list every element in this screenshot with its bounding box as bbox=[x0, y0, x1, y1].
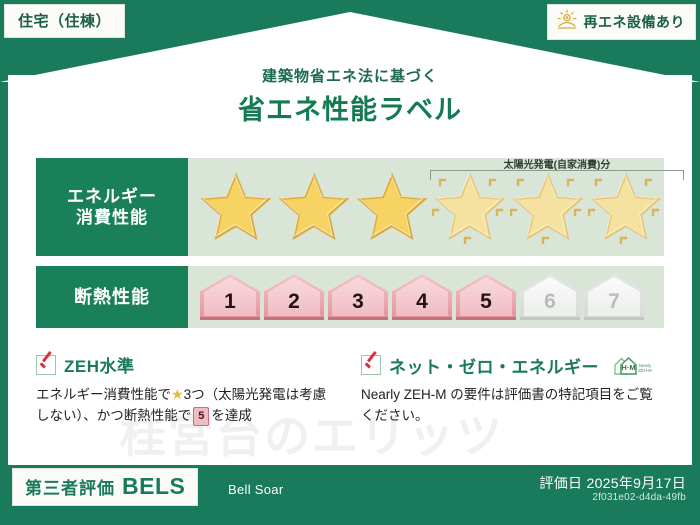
star-filled-icon bbox=[198, 169, 274, 245]
building-type-tab: 住宅（住棟） bbox=[4, 4, 125, 38]
bels-certification-box: 第三者評価 BELS bbox=[12, 468, 198, 506]
star-solar-icon bbox=[432, 169, 508, 245]
zeh-standard-head: ZEH水準 bbox=[36, 352, 339, 377]
energy-performance-row: エネルギー 消費性能 太陽光発電(自家消費)分 bbox=[36, 158, 664, 256]
renewable-equipment-badge: 再エネ設備あり bbox=[547, 4, 697, 40]
zeh-standard-note: ZEH水準 エネルギー消費性能で★3つ（太陽光発電は考慮しない）、かつ断熱性能で… bbox=[36, 352, 339, 427]
insulation-grades-panel: 1234567 bbox=[188, 266, 664, 328]
check-icon bbox=[361, 355, 381, 375]
star-filled-icon bbox=[354, 169, 430, 245]
svg-text:H·M: H·M bbox=[621, 363, 635, 372]
insulation-grade-value: 1 bbox=[224, 290, 236, 320]
insulation-grade-badge: 2 bbox=[264, 274, 324, 320]
energy-stars-panel: 太陽光発電(自家消費)分 bbox=[188, 158, 664, 256]
svg-text:ZEH-M: ZEH-M bbox=[638, 368, 652, 373]
evaluation-date: 評価日 2025年9月17日 bbox=[539, 473, 686, 493]
insulation-performance-row: 断熱性能 1234567 bbox=[36, 266, 664, 328]
insulation-grade-value: 2 bbox=[288, 290, 300, 320]
label-subtitle: 建築物省エネ法に基づく bbox=[0, 65, 700, 86]
insulation-grade-value: 6 bbox=[544, 290, 556, 320]
star-filled-icon bbox=[276, 169, 352, 245]
notes-section: ZEH水準 エネルギー消費性能で★3つ（太陽光発電は考慮しない）、かつ断熱性能で… bbox=[36, 352, 664, 427]
net-zero-head: ネット・ゼロ・エネルギー H·M Nearly ZEH-M bbox=[361, 352, 664, 378]
insulation-grade-list: 1234567 bbox=[188, 274, 644, 320]
check-icon bbox=[36, 355, 56, 375]
zeh-m-logo-icon: H·M Nearly ZEH-M bbox=[611, 352, 655, 378]
insulation-grade-badge: 5 bbox=[456, 274, 516, 320]
energy-performance-label-box: エネルギー 消費性能 bbox=[36, 158, 188, 256]
star-solar-icon bbox=[510, 169, 586, 245]
insulation-grade-badge: 7 bbox=[584, 274, 644, 320]
bels-jp-label: 第三者評価 bbox=[25, 474, 115, 499]
renewable-badge-label: 再エネ設備あり bbox=[584, 12, 686, 32]
insulation-grade-badge: 4 bbox=[392, 274, 452, 320]
inline-grade-badge: 5 bbox=[193, 407, 209, 426]
zeh-body-part1: エネルギー消費性能で bbox=[36, 387, 171, 402]
net-zero-energy-note: ネット・ゼロ・エネルギー H·M Nearly ZEH-M Nearly ZEH… bbox=[361, 352, 664, 427]
zeh-standard-body: エネルギー消費性能で★3つ（太陽光発電は考慮しない）、かつ断熱性能で5を達成 bbox=[36, 384, 339, 427]
star-rating bbox=[188, 169, 664, 245]
net-zero-title: ネット・ゼロ・エネルギー bbox=[389, 353, 599, 378]
insulation-label-box: 断熱性能 bbox=[36, 266, 188, 328]
zeh-body-part3: を達成 bbox=[211, 408, 252, 423]
insulation-grade-value: 3 bbox=[352, 290, 364, 320]
insulation-label: 断熱性能 bbox=[74, 286, 150, 309]
insulation-grade-badge: 1 bbox=[200, 274, 260, 320]
building-name: Bell Soar bbox=[228, 482, 283, 497]
insulation-grade-value: 5 bbox=[480, 290, 492, 320]
inline-star-icon: ★ bbox=[171, 386, 184, 402]
solar-sun-icon bbox=[556, 9, 578, 34]
energy-label-line1: エネルギー bbox=[67, 186, 157, 207]
zeh-standard-title: ZEH水準 bbox=[64, 352, 135, 377]
insulation-grade-value: 4 bbox=[416, 290, 428, 320]
energy-performance-label: 桂宮台のエリッツ 住宅（住棟） 再エネ設備あり 建築物省エネ法に基づく 省エネ性… bbox=[0, 0, 700, 525]
net-zero-body: Nearly ZEH-M の要件は評価書の特記項目をご覧ください。 bbox=[361, 385, 664, 427]
energy-label-line2: 消費性能 bbox=[76, 207, 148, 228]
insulation-grade-value: 7 bbox=[608, 290, 620, 320]
insulation-grade-badge: 6 bbox=[520, 274, 580, 320]
insulation-grade-badge: 3 bbox=[328, 274, 388, 320]
evaluation-id: 2f031e02-d4da-49fb bbox=[592, 492, 686, 503]
label-title: 省エネ性能ラベル bbox=[0, 88, 700, 127]
bels-en-label: BELS bbox=[122, 473, 185, 500]
star-solar-icon bbox=[588, 169, 664, 245]
